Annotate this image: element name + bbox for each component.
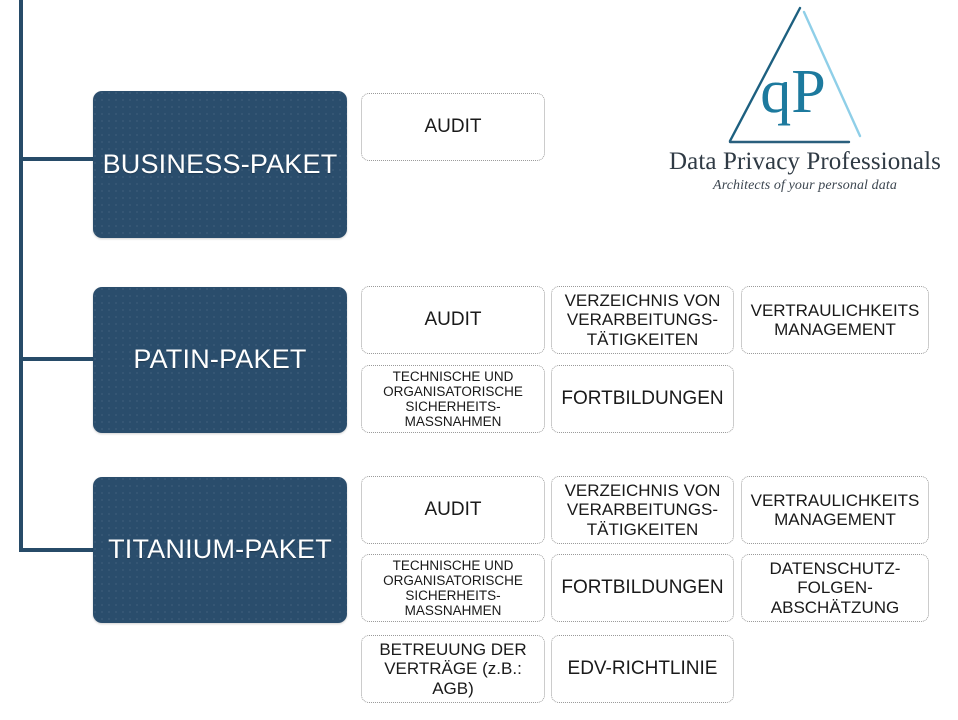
item-box-patin-tom[interactable]: TECHNISCHE UND ORGANISATORISCHE SICHERHE… [361,365,545,433]
package-label-titanium: TITANIUM-PAKET [108,535,332,565]
item-label: TECHNISCHE UND ORGANISATORISCHE SICHERHE… [367,558,539,618]
connector-branch-patin [19,357,97,361]
item-label: VERZEICHNIS VON VERARBEITUNGS-TÄTIGKEITE… [557,481,728,538]
item-box-patin-audit[interactable]: AUDIT [361,286,545,354]
logo-tagline: Architects of your personal data [660,178,950,194]
svg-text:qP: qP [760,58,825,126]
company-logo: qP Data Privacy Professionals Architects… [660,2,950,202]
connector-branch-business [19,157,97,161]
item-box-titanium-audit[interactable]: AUDIT [361,476,545,544]
package-label-patin: PATIN-PAKET [133,345,306,375]
logo-wordmark: Data Privacy Professionals [660,148,950,176]
package-label-business: BUSINESS-PAKET [103,150,338,180]
item-box-titanium-vertraulichkeit[interactable]: VERTRAULICHKEITS MANAGEMENT [741,476,929,544]
item-box-titanium-edv[interactable]: EDV-RICHTLINIE [551,635,734,703]
item-box-business-audit[interactable]: AUDIT [361,93,545,161]
item-box-patin-verzeichnis[interactable]: VERZEICHNIS VON VERARBEITUNGS-TÄTIGKEITE… [551,286,734,354]
item-label: BETREUUNG DER VERTRÄGE (z.B.: AGB) [367,640,539,697]
package-box-business[interactable]: BUSINESS-PAKET [93,91,347,238]
item-label: FORTBILDUNGEN [561,577,723,598]
org-chart-canvas: BUSINESS-PAKET PATIN-PAKET TITANIUM-PAKE… [0,0,958,720]
item-label: DATENSCHUTZ-FOLGEN-ABSCHÄTZUNG [747,559,923,616]
item-label: AUDIT [425,116,482,137]
item-box-titanium-tom[interactable]: TECHNISCHE UND ORGANISATORISCHE SICHERHE… [361,554,545,622]
item-label: TECHNISCHE UND ORGANISATORISCHE SICHERHE… [367,369,539,429]
package-box-patin[interactable]: PATIN-PAKET [93,287,347,433]
item-label: VERTRAULICHKEITS MANAGEMENT [747,301,923,339]
item-box-titanium-verzeichnis[interactable]: VERZEICHNIS VON VERARBEITUNGS-TÄTIGKEITE… [551,476,734,544]
item-box-patin-fortbildungen[interactable]: FORTBILDUNGEN [551,365,734,433]
item-box-titanium-fortbildungen[interactable]: FORTBILDUNGEN [551,554,734,622]
item-box-titanium-dsfa[interactable]: DATENSCHUTZ-FOLGEN-ABSCHÄTZUNG [741,554,929,622]
connector-trunk-vertical [19,0,23,552]
item-label: VERZEICHNIS VON VERARBEITUNGS-TÄTIGKEITE… [557,291,728,348]
item-label: EDV-RICHTLINIE [568,658,718,679]
item-box-patin-vertraulichkeit[interactable]: VERTRAULICHKEITS MANAGEMENT [741,286,929,354]
item-label: AUDIT [425,499,482,520]
triangle-logo-icon: qP [720,2,910,152]
item-label: FORTBILDUNGEN [561,388,723,409]
package-box-titanium[interactable]: TITANIUM-PAKET [93,477,347,623]
item-label: VERTRAULICHKEITS MANAGEMENT [747,491,923,529]
connector-branch-titanium [19,548,97,552]
item-label: AUDIT [425,309,482,330]
item-box-titanium-vertraege[interactable]: BETREUUNG DER VERTRÄGE (z.B.: AGB) [361,635,545,703]
